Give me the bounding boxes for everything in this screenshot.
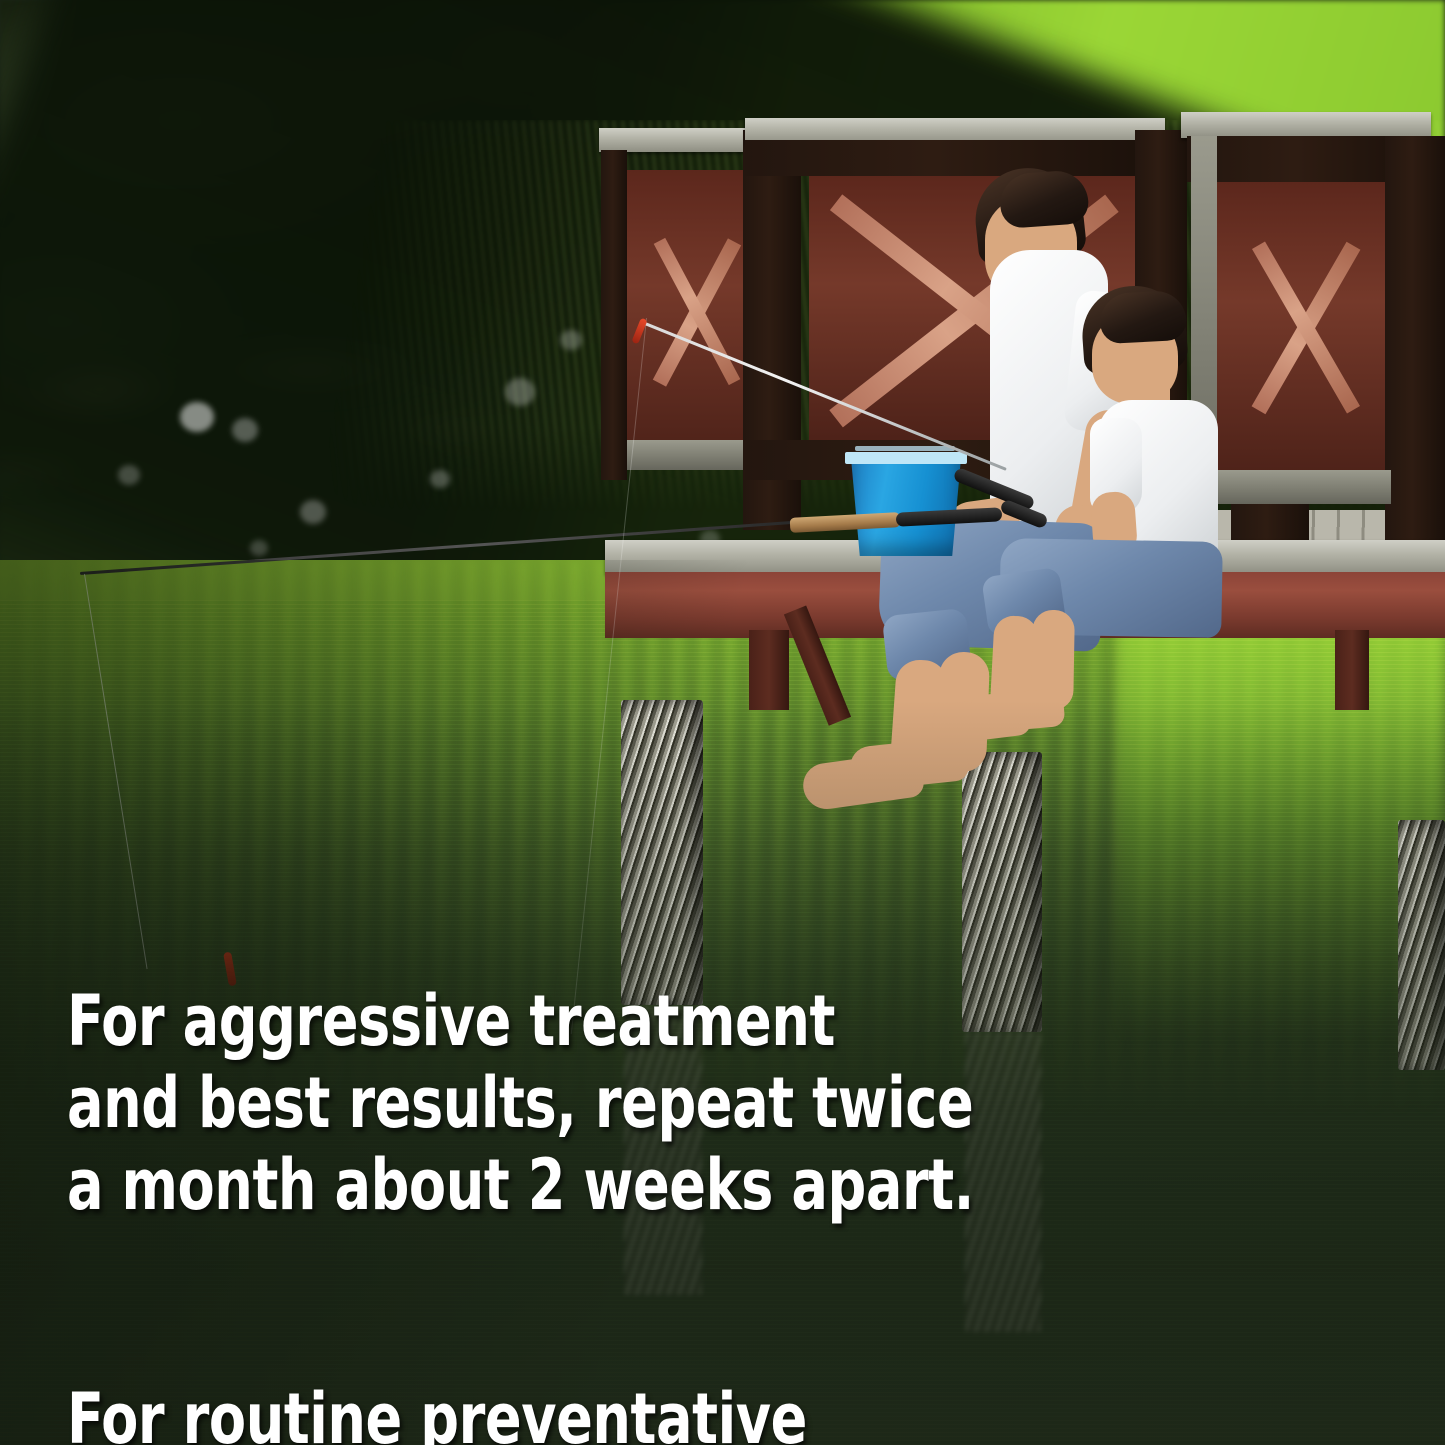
railing-top-cap-right [1181,112,1431,138]
bucket-rim [845,452,967,464]
bokeh-dot [300,500,326,524]
deck-support-beam [749,630,789,710]
railing-top-rail-center [745,140,1165,176]
caption-paragraph-aggressive: For aggressive treatment and best result… [67,980,1185,1226]
caption-block: For aggressive treatment and best result… [67,898,1185,1445]
promotional-image: For aggressive treatment and best result… [0,0,1445,1445]
railing-post-right-outer [1385,136,1445,546]
bokeh-dot [505,378,535,406]
bokeh-dot [250,540,268,556]
bokeh-dot [560,330,582,350]
bucket-handle [855,446,955,451]
bokeh-dot [232,418,258,442]
caption-paragraph-routine: For routine preventative maintenance, re… [67,1378,1185,1445]
deck-support-beam [1335,630,1369,710]
bokeh-dot [118,465,140,485]
railing-post-left-outer [601,150,627,480]
boy-hair-fringe [1099,290,1187,344]
bokeh-dot [180,402,214,432]
blue-bucket [851,458,961,556]
rope-wrapped-piling-right [1398,820,1445,1070]
railing-bottom-rail-right [1191,470,1391,504]
bokeh-dot [430,470,450,488]
